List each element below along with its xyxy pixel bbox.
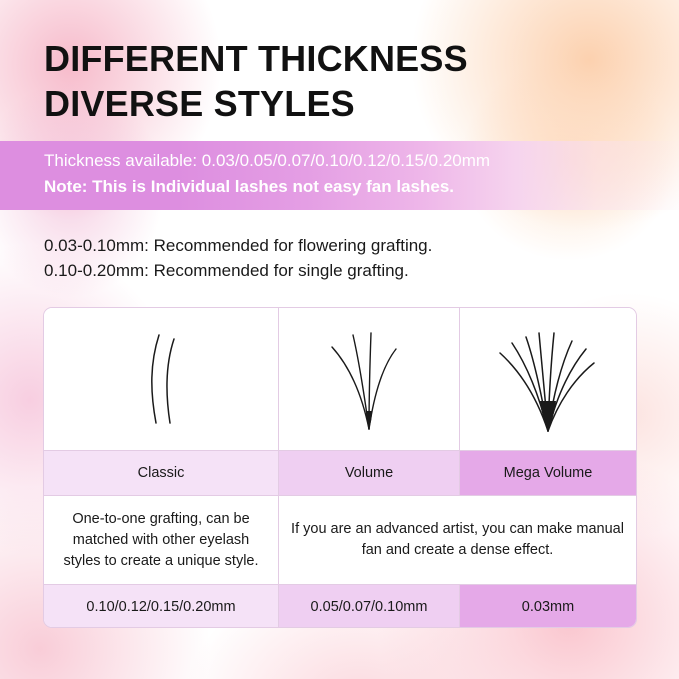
banner-note-text: Note: This is Individual lashes not easy…	[44, 177, 454, 197]
table-row-descriptions: One-to-one grafting, can be matched with…	[44, 496, 636, 584]
thickness-banner: Thickness available: 0.03/0.05/0.07/0.10…	[0, 141, 679, 210]
page-title-line-1: DIFFERENT THICKNESS	[44, 36, 644, 81]
mega-volume-fan-icon	[488, 319, 608, 439]
page-title-line-2: DIVERSE STYLES	[44, 81, 644, 126]
thickness-volume: 0.05/0.07/0.10mm	[278, 585, 459, 628]
recommendation-block: 0.03-0.10mm: Recommended for flowering g…	[44, 233, 644, 283]
thickness-classic: 0.10/0.12/0.15/0.20mm	[44, 585, 278, 628]
volume-fan-icon	[314, 319, 424, 439]
table-row-illustrations	[44, 308, 636, 450]
style-name-volume: Volume	[278, 451, 459, 495]
style-name-classic: Classic	[44, 451, 278, 495]
description-classic: One-to-one grafting, can be matched with…	[44, 496, 278, 584]
thickness-mega-volume: 0.03mm	[459, 585, 636, 628]
table-row-style-names: Classic Volume Mega Volume	[44, 450, 636, 496]
recommendation-line-2: 0.10-0.20mm: Recommended for single graf…	[44, 258, 644, 283]
page-title: DIFFERENT THICKNESS DIVERSE STYLES	[44, 36, 644, 126]
product-infographic: DIFFERENT THICKNESS DIVERSE STYLES Thick…	[0, 0, 679, 679]
volume-illustration-cell	[278, 308, 459, 450]
thickness-available-text: Thickness available: 0.03/0.05/0.07/0.10…	[44, 151, 490, 171]
classic-lash-pair-icon	[116, 319, 206, 439]
recommendation-line-1: 0.03-0.10mm: Recommended for flowering g…	[44, 233, 644, 258]
classic-illustration-cell	[44, 308, 278, 450]
lash-style-comparison-table: Classic Volume Mega Volume One-to-one gr…	[43, 307, 637, 628]
description-volume-mega: If you are an advanced artist, you can m…	[278, 496, 636, 584]
mega-volume-illustration-cell	[459, 308, 636, 450]
style-name-mega-volume: Mega Volume	[459, 451, 636, 495]
table-row-thickness: 0.10/0.12/0.15/0.20mm 0.05/0.07/0.10mm 0…	[44, 584, 636, 628]
